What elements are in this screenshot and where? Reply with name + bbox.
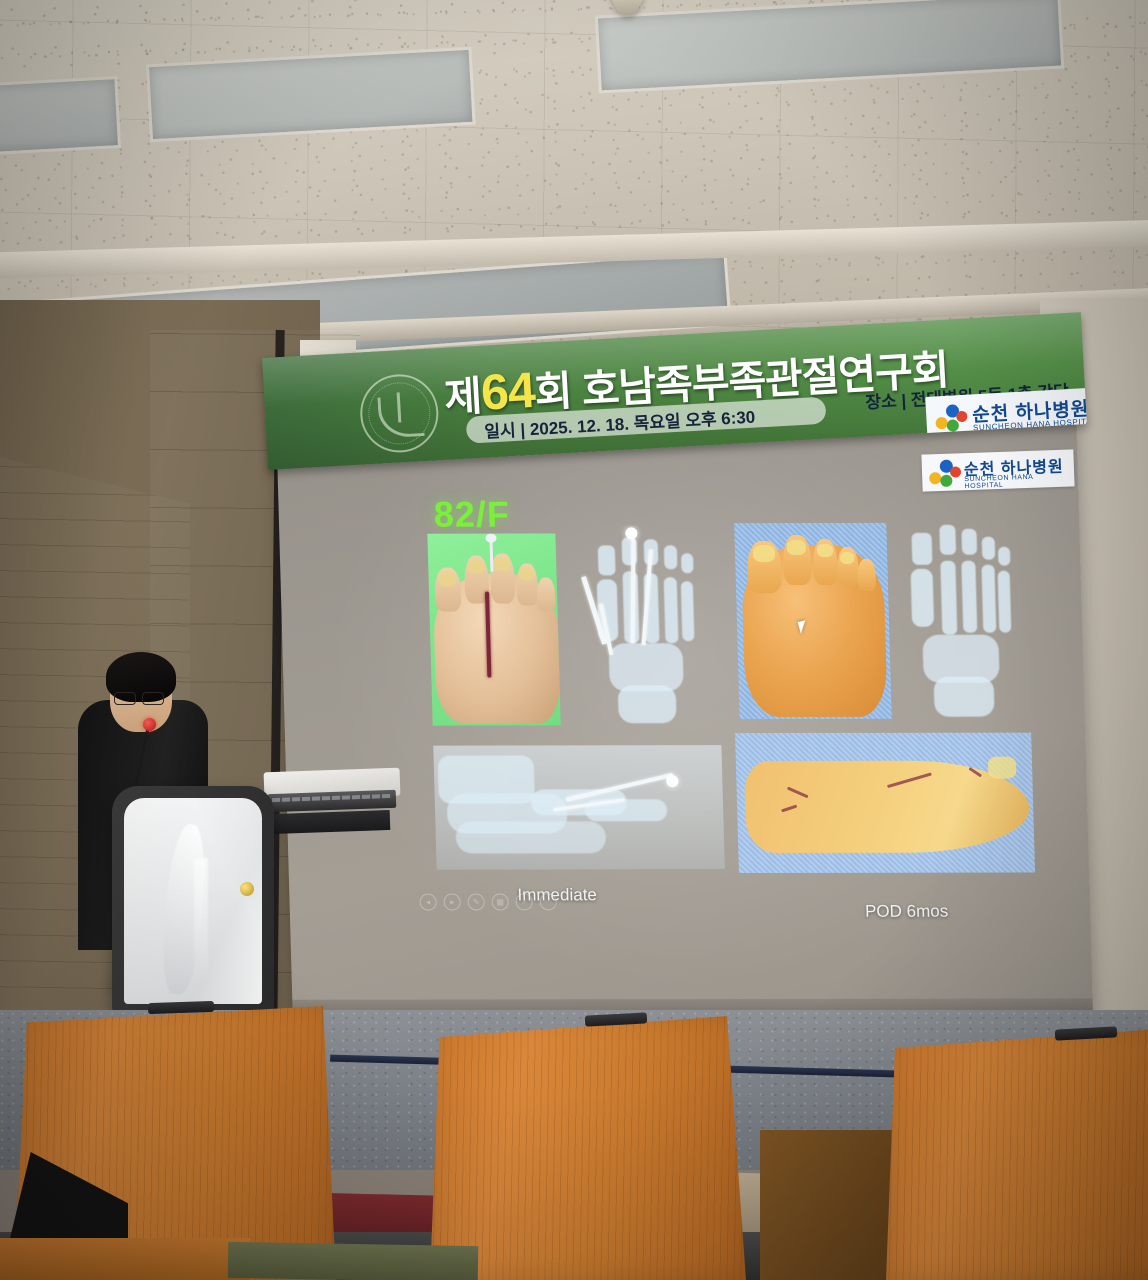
- sponsor-logo-secondary: 순천 하나병원 SUNCHEON HANA HOSPITAL: [921, 449, 1074, 491]
- podium-front-panel: [124, 798, 262, 1004]
- lateral-xray-with-k-wire: [433, 745, 725, 869]
- patient-label: 82/F: [433, 494, 510, 536]
- toenail: [519, 567, 533, 580]
- toenail: [817, 544, 833, 557]
- ceiling-recessed-panel: [0, 76, 121, 160]
- sponsor-mark-icon: [929, 459, 960, 488]
- projection-screen: 82/F: [276, 415, 1093, 1026]
- k-wire-tip: [625, 527, 637, 539]
- auditorium-seat[interactable]: [886, 1028, 1148, 1280]
- auditorium-seat[interactable]: [430, 1016, 746, 1280]
- next-slide-icon[interactable]: ▸: [443, 894, 460, 911]
- k-wire-protruding: [490, 540, 494, 572]
- seat-foreground-wood: [0, 1238, 250, 1280]
- postop-clinical-photo-green-drape: [427, 533, 560, 725]
- postop-ap-xray-with-k-wires: [579, 525, 717, 725]
- followup-ap-xray: [897, 515, 1031, 721]
- previous-slide-icon[interactable]: ◂: [419, 894, 436, 911]
- toe: [537, 577, 556, 611]
- k-wire: [631, 539, 636, 643]
- toenail: [494, 558, 510, 572]
- podium-reflection: [194, 858, 208, 978]
- zoom-icon[interactable]: ⌕: [515, 893, 532, 910]
- banner-title-prefix: 제: [443, 373, 482, 421]
- k-wire-tip: [666, 775, 678, 787]
- banner-title-suffix: 회: [533, 368, 572, 416]
- eyeglasses-icon: [114, 692, 164, 703]
- healed-clinical-photo-blue-drape: [734, 523, 892, 719]
- podium: [112, 786, 274, 1014]
- toenail: [438, 572, 455, 587]
- seat-foreground-cushion: [228, 1242, 479, 1280]
- toenail: [787, 540, 806, 555]
- all-slides-icon[interactable]: ▦: [491, 893, 508, 910]
- table-support: [272, 810, 391, 834]
- pen-annotation-icon[interactable]: ✎: [467, 893, 484, 910]
- healed-medial-foot-photo: [735, 733, 1035, 873]
- caption-pod-6mos: POD 6mos: [865, 902, 949, 922]
- toe: [857, 559, 876, 591]
- powerpoint-slideshow-toolbar[interactable]: ◂ ▸ ✎ ▦ ⌕ ⋯: [419, 893, 557, 910]
- seat-handle-icon[interactable]: [148, 1001, 214, 1014]
- auditorium-presentation-scene: 82/F: [0, 0, 1148, 1280]
- podium-emblem-icon: [240, 882, 254, 896]
- toenail: [840, 552, 854, 564]
- banner-edition-number: 64: [479, 362, 536, 421]
- great-toenail: [988, 757, 1017, 779]
- more-options-icon[interactable]: ⋯: [539, 893, 556, 910]
- microphone-head-icon: [143, 718, 156, 731]
- toenail: [468, 560, 484, 574]
- sponsor-mark-icon: [935, 404, 967, 434]
- toenail: [753, 545, 775, 562]
